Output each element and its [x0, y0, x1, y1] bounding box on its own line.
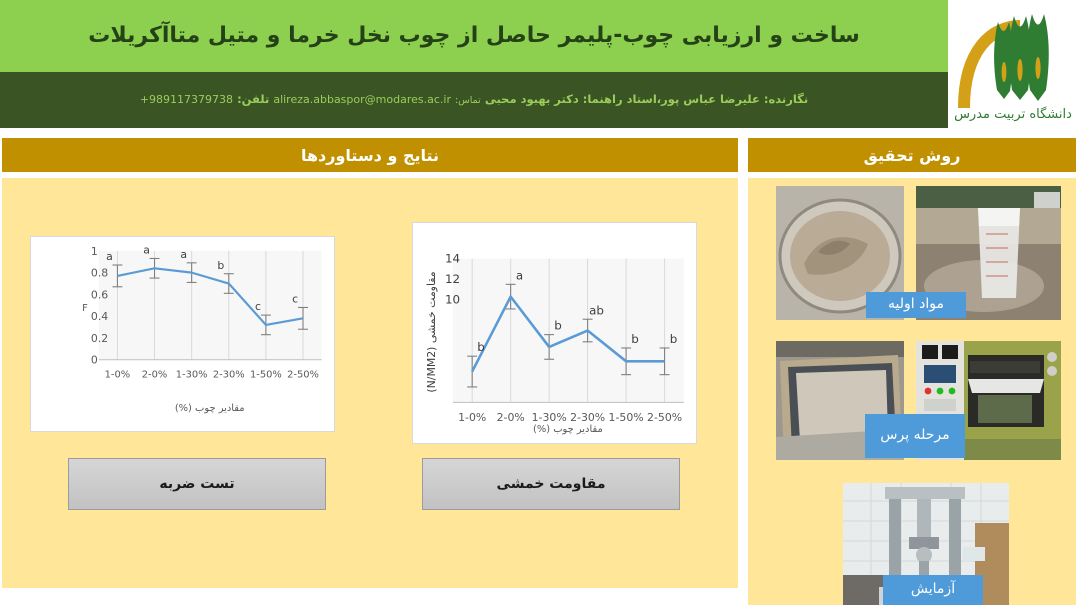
impact-test-button[interactable]: تست ضربه: [68, 458, 326, 510]
svg-text:c: c: [255, 300, 261, 313]
phone-label: تلفن:: [237, 92, 269, 106]
svg-text:c: c: [292, 293, 298, 306]
contact-phone: +989117379738: [140, 93, 233, 106]
section-title-results: نتایج و دستاوردها: [301, 146, 439, 165]
tarbiat-modares-logo-icon: دانشگاه تربیت مدرس: [954, 4, 1072, 124]
flexural-chart-y-axis-label: مقاومت خمشی (N/MM2): [425, 271, 438, 392]
svg-text:b: b: [477, 340, 485, 354]
svg-text:0: 0: [91, 354, 98, 367]
svg-text:a: a: [516, 268, 523, 282]
svg-text:10: 10: [445, 293, 460, 307]
svg-text:b: b: [670, 332, 678, 346]
flexural-strength-button[interactable]: مقاومت خمشی: [422, 458, 680, 510]
svg-text:0.4: 0.4: [91, 310, 108, 323]
svg-text:30%-1: 30%-1: [176, 370, 208, 381]
section-title-method: روش تحقیق: [864, 146, 961, 165]
svg-text:b: b: [631, 332, 639, 346]
logo-caption: دانشگاه تربیت مدرس: [954, 106, 1072, 122]
svg-text:0.2: 0.2: [91, 332, 108, 345]
svg-text:b: b: [217, 259, 224, 272]
label-testing-text: آزمایش: [911, 581, 955, 599]
poster-canvas: ساخت و ارزیابی چوب-پلیمر حاصل از چوب نخل…: [0, 0, 1078, 605]
impact-chart-y-axis-label: F: [82, 303, 88, 314]
impact-chart-x-axis-label: مقادیر چوب (%): [175, 403, 245, 414]
svg-text:50%-1: 50%-1: [609, 411, 644, 424]
author-contact-line: نگارنده: علیرضا عباس پور،استاد راهنما: د…: [122, 92, 826, 107]
poster-subtitle-band: نگارنده: علیرضا عباس پور،استاد راهنما: د…: [0, 72, 948, 128]
label-testing: آزمایش: [883, 575, 983, 605]
svg-text:50%-1: 50%-1: [250, 370, 282, 381]
impact-test-button-label: تست ضربه: [159, 476, 234, 492]
flexural-chart-x-axis-label: مقادیر چوب (%): [533, 424, 603, 435]
svg-text:0.6: 0.6: [91, 288, 108, 301]
label-press-stage-text: مرحله پرس: [880, 427, 949, 445]
svg-text:30%-2: 30%-2: [213, 370, 245, 381]
svg-text:a: a: [180, 248, 187, 261]
svg-text:50%-2: 50%-2: [287, 370, 319, 381]
svg-text:ab: ab: [589, 303, 604, 317]
svg-text:14: 14: [445, 252, 460, 266]
page-title: ساخت و ارزیابی چوب-پلیمر حاصل از چوب نخل…: [74, 23, 873, 49]
impact-chart-card: 00.20.40.60.81 0%-10%-230%-130%-250%-150…: [30, 236, 335, 432]
section-header-method: روش تحقیق: [748, 138, 1076, 172]
flexural-strength-button-label: مقاومت خمشی: [497, 476, 606, 492]
results-panel: 00.20.40.60.81 0%-10%-230%-130%-250%-150…: [2, 178, 738, 588]
flexural-chart-card: 101214 0%-10%-230%-130%-250%-150%-2 baba…: [412, 222, 697, 444]
label-raw-materials: مواد اولیه: [866, 292, 966, 318]
svg-text:12: 12: [445, 272, 460, 286]
author-line: نگارنده: علیرضا عباس پور،استاد راهنما: د…: [485, 92, 808, 106]
svg-text:a: a: [143, 244, 150, 257]
label-press-stage: مرحله پرس: [865, 414, 965, 458]
flexural-strength-chart: 101214 0%-10%-230%-130%-250%-150%-2 baba…: [413, 223, 696, 443]
svg-text:0.8: 0.8: [91, 267, 108, 280]
svg-text:b: b: [554, 319, 562, 333]
panel-divider: [740, 130, 748, 605]
section-header-results: نتایج و دستاوردها: [2, 138, 738, 172]
university-logo: دانشگاه تربیت مدرس: [948, 0, 1078, 128]
svg-text:0%-2: 0%-2: [497, 411, 525, 424]
svg-text:30%-1: 30%-1: [532, 411, 567, 424]
impact-chart: 00.20.40.60.81 0%-10%-230%-130%-250%-150…: [31, 237, 334, 431]
contact-label: تماس:: [455, 95, 481, 106]
contact-email[interactable]: alireza.abbaspor@modares.ac.ir: [273, 93, 451, 106]
poster-title-band: ساخت و ارزیابی چوب-پلیمر حاصل از چوب نخل…: [0, 0, 948, 72]
svg-text:0%-1: 0%-1: [105, 370, 131, 381]
svg-text:0%-1: 0%-1: [458, 411, 486, 424]
label-raw-materials-text: مواد اولیه: [888, 296, 944, 314]
svg-text:30%-2: 30%-2: [570, 411, 605, 424]
svg-text:0%-2: 0%-2: [142, 370, 168, 381]
svg-text:1: 1: [91, 245, 98, 258]
svg-text:a: a: [106, 250, 113, 263]
svg-text:50%-2: 50%-2: [647, 411, 682, 424]
method-panel: مواد اولیه: [748, 178, 1076, 605]
